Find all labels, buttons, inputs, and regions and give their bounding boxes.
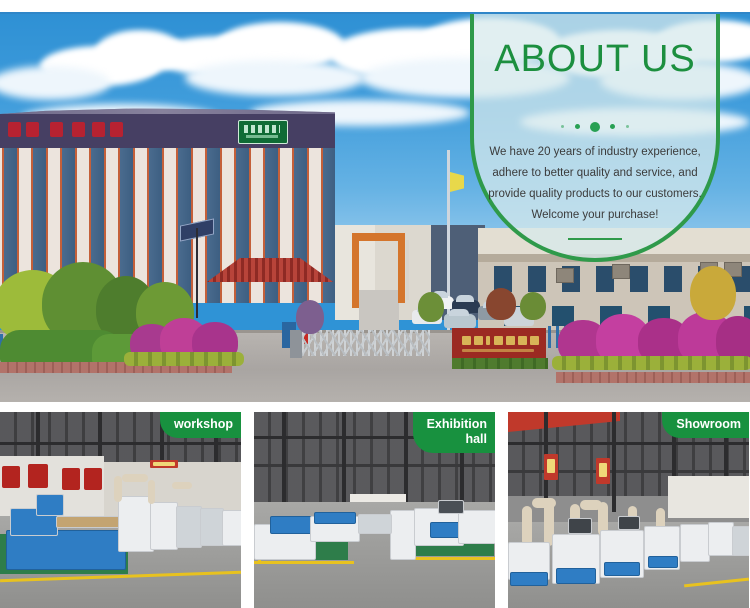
about-line-4: Welcome your purchase! — [482, 205, 708, 226]
thumbnail-badge-workshop: workshop — [160, 412, 241, 438]
badge-label-line-1: Exhibition — [427, 417, 487, 432]
cnc-machine — [6, 530, 126, 570]
page-title: ABOUT US — [474, 40, 716, 78]
badge-label: Showroom — [676, 417, 741, 431]
flag-pole-inner — [406, 240, 409, 300]
company-logo-sign — [238, 120, 288, 144]
brick-path — [556, 372, 750, 383]
tree — [296, 300, 324, 334]
about-us-panel: ABOUT US We have 20 years of industry ex… — [470, 14, 720, 262]
thumbnail-exhibition-hall[interactable]: Exhibition hall — [254, 412, 495, 608]
gate-lattice — [302, 330, 430, 356]
gallery-thumbnails: workshop — [0, 412, 750, 608]
badge-label-line-2: hall — [427, 432, 487, 447]
thumbnail-workshop[interactable]: workshop — [0, 412, 241, 608]
about-us-banner: ABOUT US We have 20 years of industry ex… — [0, 0, 750, 608]
dot-2[interactable] — [575, 124, 580, 129]
badge-label: workshop — [174, 417, 233, 431]
factory-name-signboard — [452, 328, 546, 358]
tree — [520, 292, 546, 320]
thumbnail-badge-showroom: Showroom — [662, 412, 749, 438]
air-conditioner-unit — [556, 268, 574, 283]
entrance-pavilion — [195, 258, 345, 306]
about-line-1: We have 20 years of industry experience, — [482, 142, 708, 163]
dot-1[interactable] — [561, 125, 564, 128]
low-hedge — [552, 356, 750, 370]
about-line-3: provide quality products to our customer… — [482, 184, 708, 205]
low-hedge — [124, 352, 244, 366]
about-description: We have 20 years of industry experience,… — [482, 142, 708, 226]
tree — [486, 288, 516, 320]
inner-driveway — [359, 290, 399, 330]
about-line-2: adhere to better quality and service, an… — [482, 163, 708, 184]
thumbnail-badge-exhibition-hall: Exhibition hall — [413, 412, 495, 453]
air-conditioner-unit — [612, 264, 630, 279]
dot-3[interactable] — [590, 122, 600, 132]
accent-divider — [568, 238, 622, 240]
orange-gantry-top — [352, 233, 405, 241]
gate-motor-box — [290, 330, 302, 358]
dot-4[interactable] — [610, 124, 615, 129]
sign-hedge — [452, 358, 548, 369]
dot-5[interactable] — [626, 125, 629, 128]
carousel-dots[interactable] — [474, 118, 716, 132]
orange-gantry-left — [352, 233, 359, 308]
parked-car — [444, 314, 476, 328]
thumbnail-showroom[interactable]: Showroom — [508, 412, 749, 608]
tree — [690, 266, 736, 320]
tree — [418, 292, 444, 322]
orange-gantry-right — [398, 233, 405, 303]
